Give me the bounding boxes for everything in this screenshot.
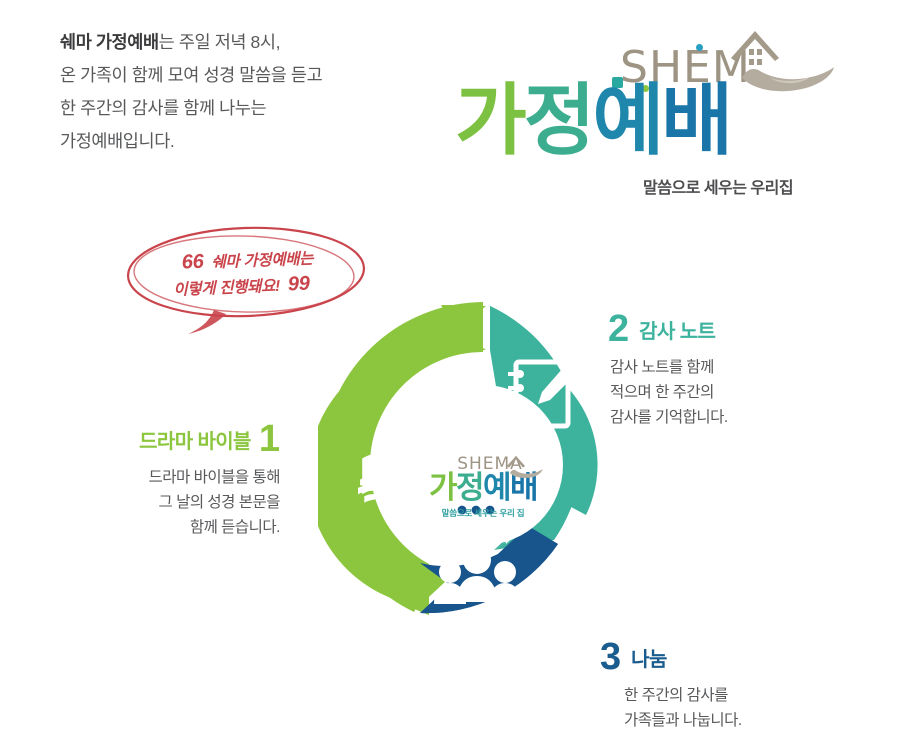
step-2-desc-line-2: 적으며 한 주간의 [610, 380, 838, 405]
step-1-desc-line-1: 드라마 바이블을 통해 [60, 465, 280, 490]
step-1-head: 드라마 바이블 1 [60, 422, 280, 456]
step-2-desc-line-3: 감사를 기억합니다. [610, 405, 838, 430]
quote-open: 66 [181, 251, 203, 274]
step-3-desc-line-2: 가족들과 나눕니다. [624, 708, 840, 733]
step-1-description: 드라마 바이블을 통해 그 날의 성경 본문을 함께 듣습니다. [60, 465, 280, 540]
intro-line-3: 한 주간의 감사를 함께 나누는 [60, 92, 440, 125]
donut-center-logo: SHEMA 가정예배 말씀으로 세우는 우리 집 [403, 455, 563, 545]
step-3-title: 나눔 [631, 646, 667, 674]
step-drama-bible: 드라마 바이블 1 드라마 바이블을 통해 그 날의 성경 본문을 함께 듣습니… [60, 422, 280, 540]
center-char-1: 가 [429, 470, 456, 505]
intro-line-1-rest: 는 주일 저녁 8시, [159, 32, 280, 52]
quote-close: 99 [287, 273, 309, 296]
step-2-head: 2 감사 노트 [608, 312, 838, 346]
hangul-char-4: 배 [661, 76, 730, 164]
intro-highlight: 쉐마 가정예배 [60, 32, 159, 52]
step-2-number: 2 [608, 312, 629, 346]
bubble-line-1: 쉐마 가정예배는 [211, 250, 313, 271]
hangul-wordmark: 가정예배 [455, 72, 730, 168]
step-sharing: 3 나눔 한 주간의 감사를 가족들과 나눕니다. [600, 640, 840, 733]
step-3-desc-line-1: 한 주간의 감사를 [624, 683, 840, 708]
hangul-char-1: 가 [455, 76, 524, 164]
step-2-description: 감사 노트를 함께 적으며 한 주간의 감사를 기억합니다. [610, 355, 838, 430]
center-tagline: 말씀으로 세우는 우리 집 [403, 507, 563, 519]
step-3-head: 3 나눔 [600, 640, 840, 674]
intro-line-4: 가정예배입니다. [60, 125, 440, 158]
speech-bubble-text: 66 쉐마 가정예배는 이렇게 진행돼요! 99 [117, 243, 379, 305]
shema-dot-blue-top [696, 44, 703, 51]
brand-logo: S H E M 가정예배 말씀으로 세우는 우리집 [455, 22, 875, 202]
center-char-3: 예 [483, 470, 510, 505]
step-1-number: 1 [259, 422, 280, 456]
hangul-char-2: 정 [524, 76, 593, 164]
step-2-title: 감사 노트 [639, 318, 715, 346]
step-3-number: 3 [600, 640, 621, 674]
infographic-page: 쉐마 가정예배는 주일 저녁 8시, 온 가족이 함께 모여 성경 말씀을 듣고… [0, 0, 903, 751]
step-3-description: 한 주간의 감사를 가족들과 나눕니다. [624, 683, 840, 733]
step-1-desc-line-2: 그 날의 성경 본문을 [60, 490, 280, 515]
step-1-title: 드라마 바이블 [139, 428, 251, 456]
hand-icon [740, 58, 836, 94]
step-1-desc-line-3: 함께 듣습니다. [60, 515, 280, 540]
bubble-line-2: 이렇게 진행돼요! [173, 278, 280, 299]
logo-tagline: 말씀으로 세우는 우리집 [643, 174, 793, 198]
center-char-2: 정 [456, 470, 483, 505]
intro-line-2: 온 가족이 함께 모여 성경 말씀을 듣고 [60, 59, 440, 92]
step-thanks-note: 2 감사 노트 감사 노트를 함께 적으며 한 주간의 감사를 기억합니다. [608, 312, 838, 430]
intro-line-1: 쉐마 가정예배는 주일 저녁 8시, [60, 26, 440, 59]
intro-paragraph: 쉐마 가정예배는 주일 저녁 8시, 온 가족이 함께 모여 성경 말씀을 듣고… [60, 26, 440, 158]
hangul-char-3: 예 [593, 76, 662, 164]
step-2-desc-line-1: 감사 노트를 함께 [610, 355, 838, 380]
center-hand-icon [509, 466, 543, 479]
